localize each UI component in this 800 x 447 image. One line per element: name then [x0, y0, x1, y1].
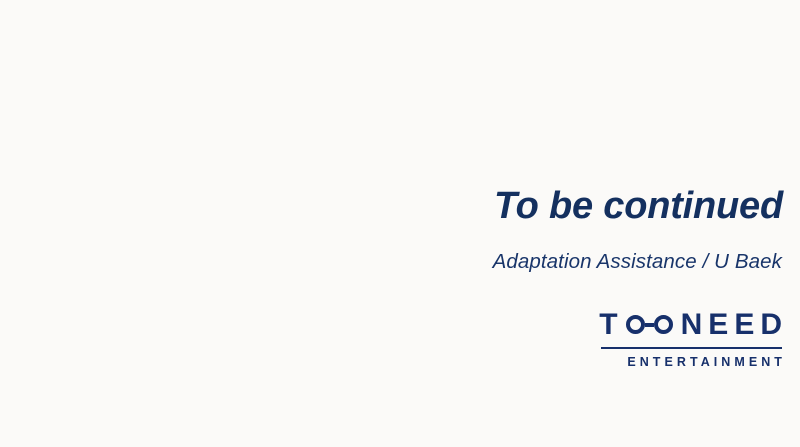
- logo-wordmark: T N E E D: [599, 310, 782, 340]
- logo-divider: [601, 347, 782, 350]
- logo-letter-t: T: [599, 310, 617, 340]
- logo-ring-right-icon: [654, 315, 673, 334]
- logo-link-bar-icon: [645, 323, 654, 328]
- logo-letter-d: D: [760, 310, 782, 340]
- logo-letter-e-first: E: [708, 310, 728, 340]
- page-title: To be continued: [494, 186, 784, 226]
- end-card-content: To be continued Adaptation Assistance / …: [244, 186, 784, 369]
- logo-letter-e-second: E: [734, 310, 754, 340]
- credit-line: Adaptation Assistance / U Baek: [493, 251, 782, 274]
- logo-letter-n: N: [681, 310, 703, 340]
- logo-linked-o-icon: [626, 315, 673, 334]
- end-card-slide: To be continued Adaptation Assistance / …: [0, 0, 800, 447]
- logo-tagline: ENTERTAINMENT: [627, 356, 786, 369]
- logo-ring-left-icon: [626, 315, 645, 334]
- tooneed-logo: T N E E D ENTERTAINMENT: [599, 310, 782, 369]
